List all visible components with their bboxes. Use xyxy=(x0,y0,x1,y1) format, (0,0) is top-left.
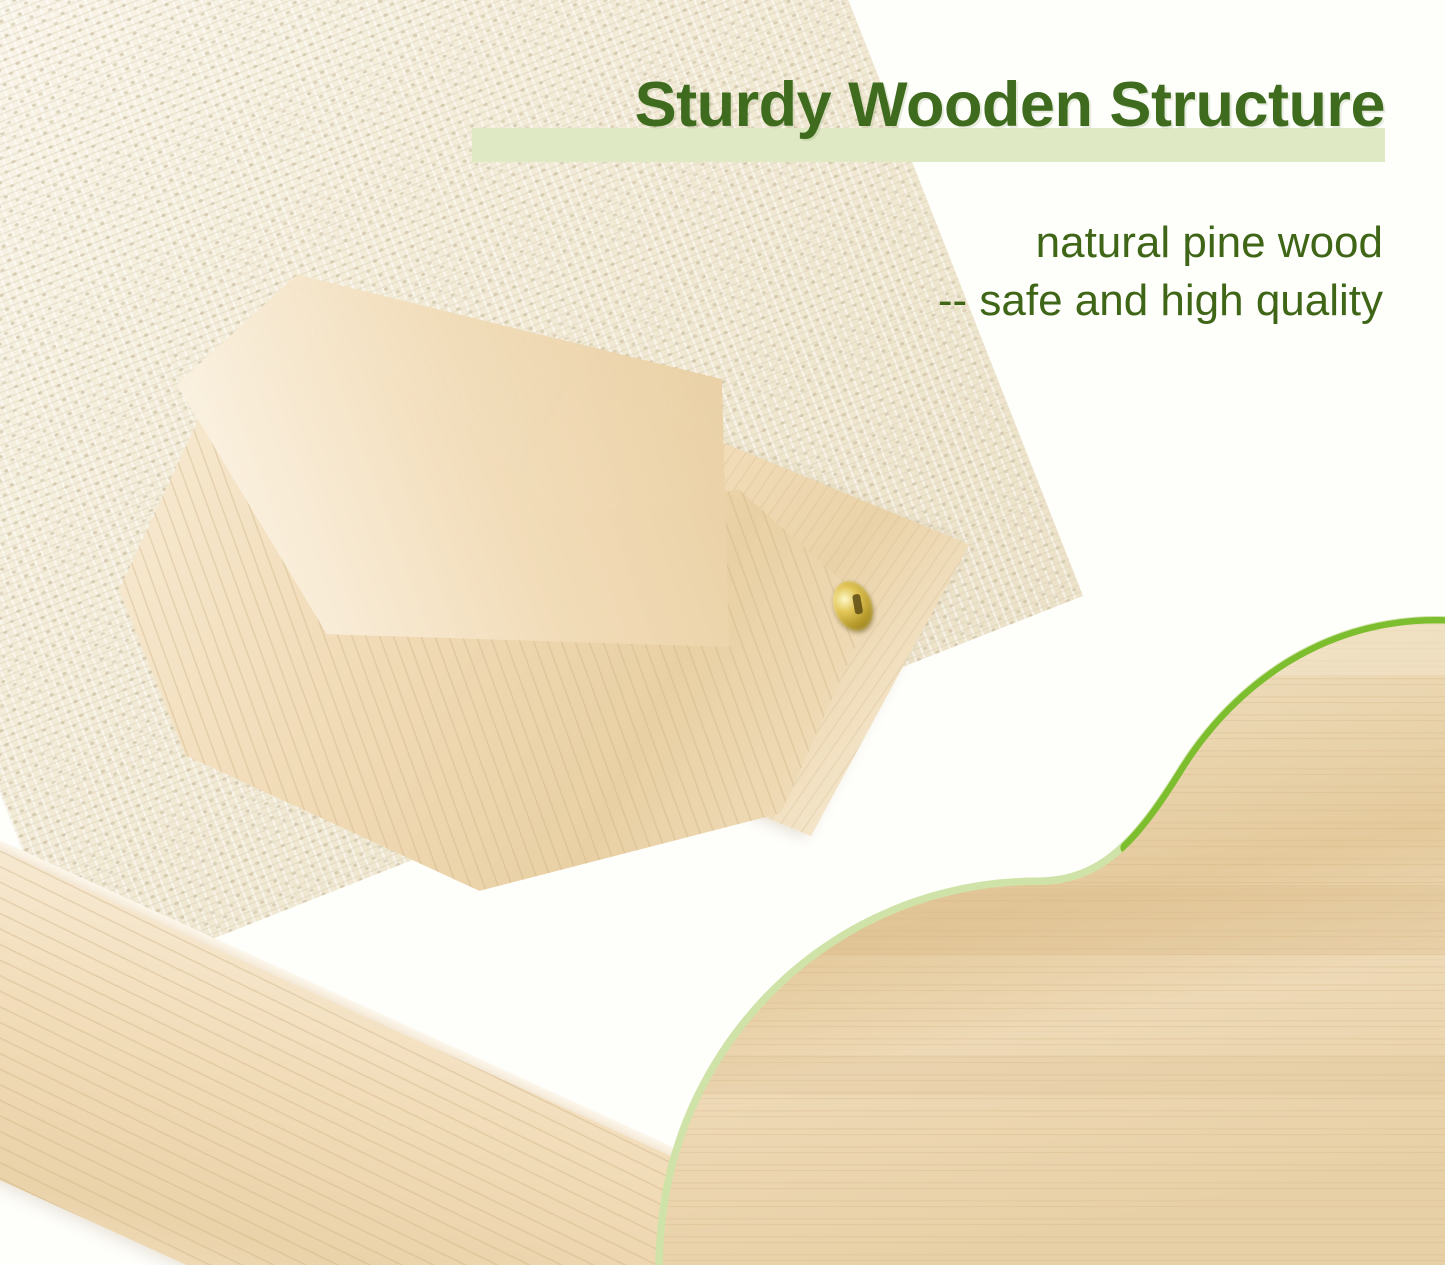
page-title: Sturdy Wooden Structure xyxy=(472,74,1385,137)
subtitle-line-1: natural pine wood xyxy=(1036,218,1383,267)
cloud-shaped-pine-board xyxy=(585,585,1445,1265)
subtitle-line-2: -- safe and high quality xyxy=(938,276,1383,325)
cloud-board-surface xyxy=(585,585,1445,1265)
product-marketing-image: Sturdy Wooden Structure natural pine woo… xyxy=(0,0,1445,1265)
